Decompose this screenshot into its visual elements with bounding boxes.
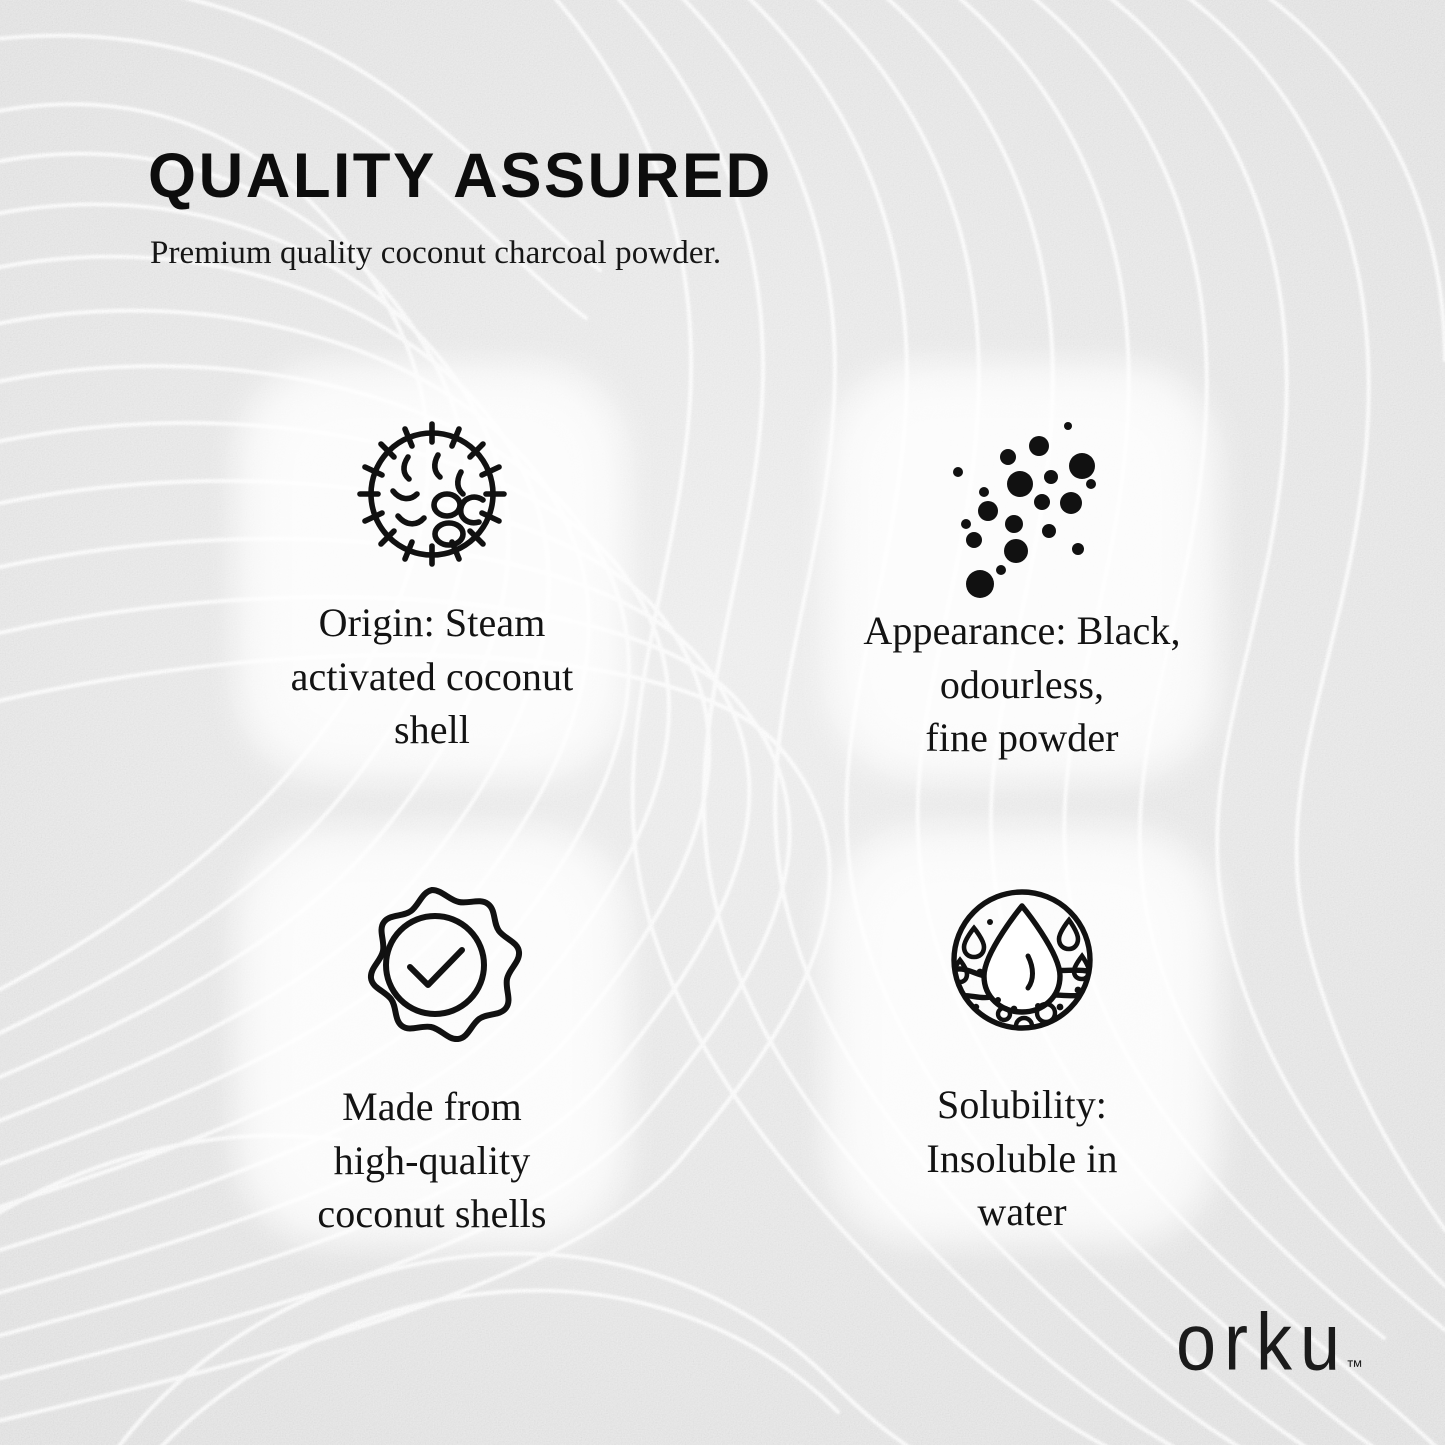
header: QUALITY ASSURED Premium quality coconut … bbox=[148, 145, 1298, 274]
brand-logo: orku ™ bbox=[1176, 1311, 1363, 1383]
feature-label-appearance: Appearance: Black, odourless, fine powde… bbox=[863, 604, 1180, 765]
quality-badge-check-icon bbox=[348, 878, 516, 1046]
feature-grid: Origin: Steam activated coconut shell bbox=[222, 358, 1232, 1258]
feature-card-appearance: Appearance: Black, odourless, fine powde… bbox=[812, 358, 1232, 794]
feature-label-origin: Origin: Steam activated coconut shell bbox=[291, 596, 574, 757]
coconut-icon bbox=[348, 410, 516, 578]
water-droplet-sediment-icon bbox=[938, 876, 1106, 1044]
page-subtitle: Premium quality coconut charcoal powder. bbox=[150, 234, 1298, 274]
feature-card-solubility: Solubility: Insoluble in water bbox=[812, 822, 1232, 1258]
brand-wordmark: orku bbox=[1176, 1302, 1348, 1383]
trademark-symbol: ™ bbox=[1346, 1357, 1363, 1377]
feature-card-quality: Made from high-quality coconut shells bbox=[222, 822, 642, 1258]
feature-card-origin: Origin: Steam activated coconut shell bbox=[222, 358, 642, 794]
powder-dots-icon bbox=[938, 414, 1106, 582]
feature-label-solubility: Solubility: Insoluble in water bbox=[926, 1078, 1117, 1239]
feature-label-quality: Made from high-quality coconut shells bbox=[317, 1080, 546, 1241]
page-title: QUALITY ASSURED bbox=[148, 145, 1275, 208]
infographic-canvas: QUALITY ASSURED Premium quality coconut … bbox=[0, 0, 1445, 1445]
